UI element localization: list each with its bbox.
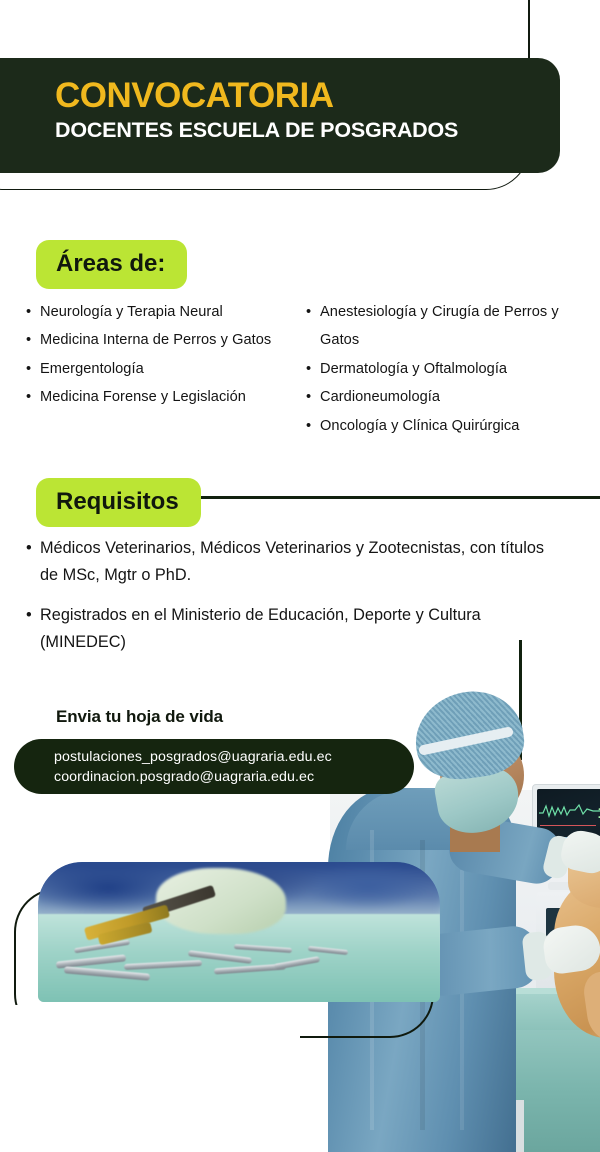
list-item: Médicos Veterinarios, Médicos Veterinari…	[26, 535, 546, 590]
gown-fold	[460, 870, 464, 1130]
list-item: Anestesiología y Cirugía de Perros y Gat…	[306, 298, 586, 355]
instrument-tray-photo	[38, 862, 440, 1002]
requisitos-divider-rule	[200, 496, 600, 499]
list-item: Cardioneumología	[306, 383, 586, 411]
email-address[interactable]: postulaciones_posgrados@uagraria.edu.ec	[54, 748, 414, 768]
ecg-waveform-icon	[539, 801, 600, 819]
poster-root: CONVOCATORIA DOCENTES ESCUELA DE POSGRAD…	[0, 0, 600, 1152]
areas-columns: Neurología y Terapia Neural Medicina Int…	[26, 298, 586, 440]
requisitos-section-label: Requisitos	[36, 478, 201, 527]
list-item: Medicina Forense y Legislación	[26, 383, 306, 411]
page-title: CONVOCATORIA	[55, 78, 560, 115]
list-item: Dermatología y Oftalmología	[306, 355, 586, 383]
requisitos-list: Médicos Veterinarios, Médicos Veterinari…	[26, 535, 546, 669]
monitor-red-trace	[540, 825, 596, 826]
email-address[interactable]: coordinacion.posgrado@uagraria.edu.ec	[54, 768, 414, 788]
cv-label: Envia tu hoja de vida	[56, 707, 223, 727]
areas-column-left: Neurología y Terapia Neural Medicina Int…	[26, 298, 306, 440]
list-item: Medicina Interna de Perros y Gatos	[26, 326, 306, 354]
header-banner: CONVOCATORIA DOCENTES ESCUELA DE POSGRAD…	[0, 58, 560, 173]
bottom-white-mask	[0, 1005, 300, 1152]
list-item: Neurología y Terapia Neural	[26, 298, 306, 326]
list-item: Registrados en el Ministerio de Educació…	[26, 602, 546, 657]
areas-list-left: Neurología y Terapia Neural Medicina Int…	[26, 298, 306, 412]
list-item: Emergentología	[26, 355, 306, 383]
email-contact-box[interactable]: postulaciones_posgrados@uagraria.edu.ec …	[14, 739, 414, 794]
page-subtitle: DOCENTES ESCUELA DE POSGRADOS	[55, 118, 560, 143]
areas-list-right: Anestesiología y Cirugía de Perros y Gat…	[306, 298, 586, 440]
list-item: Oncología y Clínica Quirúrgica	[306, 412, 586, 440]
areas-column-right: Anestesiología y Cirugía de Perros y Gat…	[306, 298, 586, 440]
areas-section-label: Áreas de:	[36, 240, 187, 289]
